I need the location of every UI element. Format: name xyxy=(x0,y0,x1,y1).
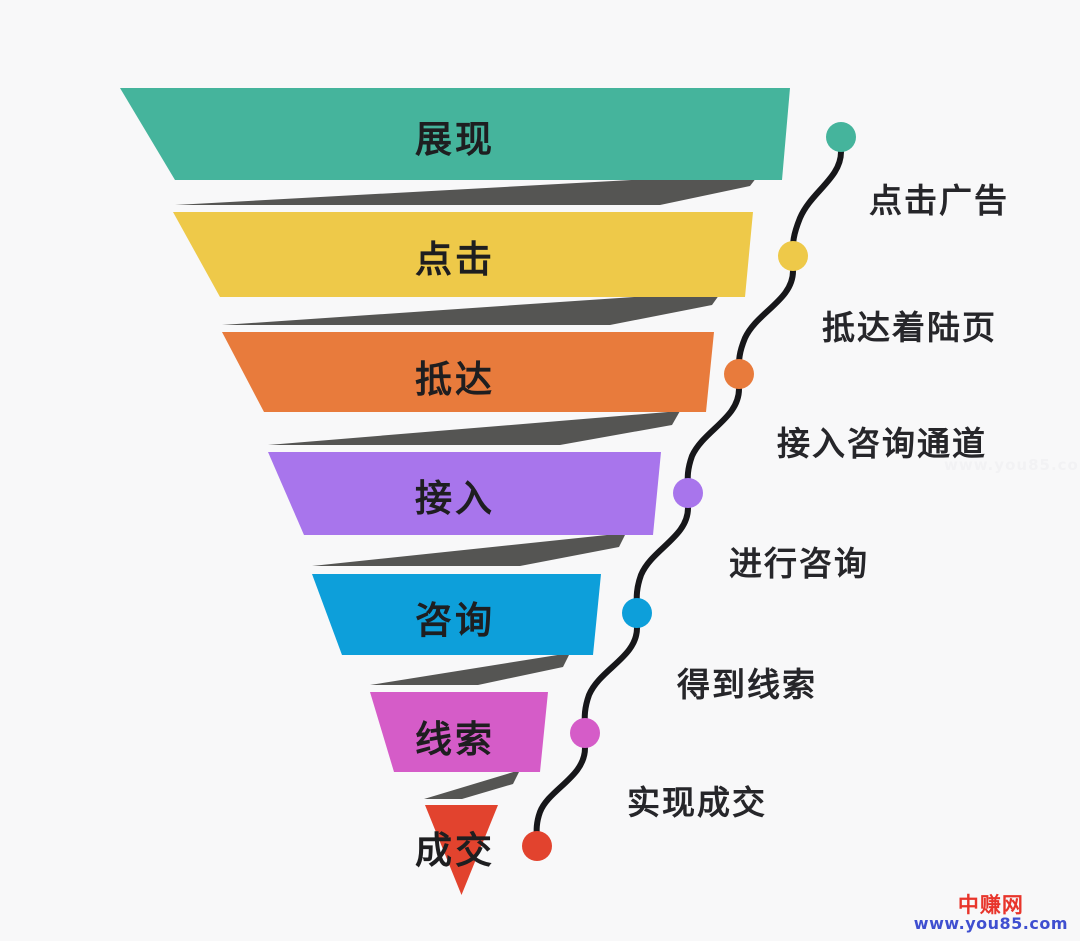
funnel-connector xyxy=(268,411,680,445)
funnel-band[interactable] xyxy=(268,452,661,535)
step-label: 点击广告 xyxy=(869,174,1009,222)
funnel-connector xyxy=(370,653,570,685)
funnel-band[interactable] xyxy=(173,212,753,297)
funnel-band[interactable] xyxy=(312,574,601,655)
funnel-band[interactable] xyxy=(120,88,790,180)
step-label: 进行咨询 xyxy=(729,537,869,585)
step-dot[interactable] xyxy=(673,478,703,508)
step-label: 抵达着陆页 xyxy=(822,301,997,349)
step-dot[interactable] xyxy=(622,598,652,628)
step-dot[interactable] xyxy=(570,718,600,748)
funnel-band[interactable] xyxy=(222,332,714,412)
funnel-connector xyxy=(312,533,626,566)
funnel-graphic xyxy=(0,0,1080,941)
step-curve xyxy=(537,748,585,846)
funnel-band[interactable] xyxy=(425,805,498,895)
funnel-band[interactable] xyxy=(370,692,548,772)
step-label: 得到线索 xyxy=(677,658,817,706)
step-dot[interactable] xyxy=(724,359,754,389)
watermark-url: www.you85.com xyxy=(914,916,1068,933)
watermark-brand: 中赚网 xyxy=(914,894,1068,916)
watermark: 中赚网 www.you85.com xyxy=(914,894,1068,933)
step-dot[interactable] xyxy=(826,122,856,152)
step-curve xyxy=(739,271,793,374)
step-label: 实现成交 xyxy=(627,776,767,824)
ghost-watermark: www.you85.com xyxy=(944,456,1080,474)
funnel-connector xyxy=(424,770,520,799)
funnel-diagram-canvas: 展现点击抵达接入咨询线索成交 点击广告抵达着陆页接入咨询通道进行咨询得到线索实现… xyxy=(0,0,1080,941)
step-curve xyxy=(793,152,841,256)
step-dot[interactable] xyxy=(522,831,552,861)
step-dot[interactable] xyxy=(778,241,808,271)
